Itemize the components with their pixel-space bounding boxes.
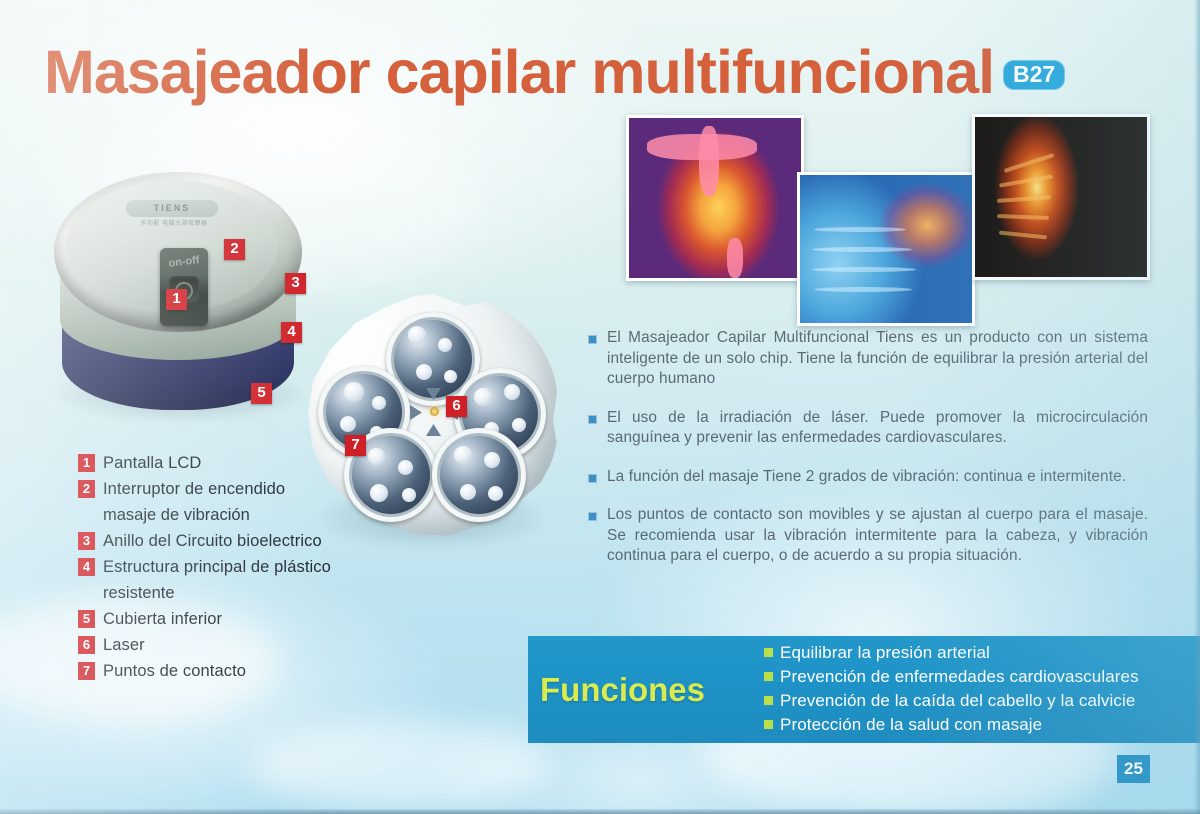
legend-item: 1Pantalla LCD <box>78 452 378 474</box>
bullet-square-icon <box>764 672 773 681</box>
function-item-label: Prevención de enfermedades cardiovascula… <box>780 666 1139 687</box>
legend-item: 6Laser <box>78 634 378 656</box>
device-logo-subtext: 多功能 电脑头部按摩器 <box>110 220 238 228</box>
feature-bullet-list: El Masajeador Capilar Multifuncional Tie… <box>588 328 1148 585</box>
bullet-square-icon <box>588 512 597 521</box>
function-item-label: Equilibrar la presión arterial <box>780 642 990 663</box>
bullet-square-icon <box>588 415 597 424</box>
massage-pod <box>432 428 526 522</box>
device-logo: TIENS <box>126 200 218 217</box>
functions-panel-title: Funciones <box>540 671 758 709</box>
function-item: Prevención de la caída del cabello y la … <box>764 690 1139 711</box>
legend-item-number: 5 <box>78 610 95 628</box>
cloud-decoration <box>250 720 550 810</box>
feature-bullet-text: La función del masaje Tiene 2 grados de … <box>607 467 1126 488</box>
function-item: Equilibrar la presión arterial <box>764 642 1139 663</box>
legend-item-label: Puntos de contacto <box>103 660 246 682</box>
model-badge: B27 <box>1003 60 1065 90</box>
functions-panel: Funciones Equilibrar la presión arterial… <box>528 636 1200 743</box>
function-item-label: Protección de la salud con masaje <box>780 714 1042 735</box>
callout-chip-4: 4 <box>281 322 302 343</box>
legend-item-label: Cubierta inferior <box>103 608 222 630</box>
legend-item: 3Anillo del Circuito bioelectrico <box>78 530 378 552</box>
page-title: Masajeador capilar multifuncional <box>44 42 994 103</box>
shoulder-skeleton-photo <box>797 172 975 326</box>
laser-dot-icon <box>430 407 439 416</box>
feature-bullet-text: El uso de la irradiación de láser. Puede… <box>607 408 1148 449</box>
bullet-square-icon <box>764 648 773 657</box>
feature-bullet: La función del masaje Tiene 2 grados de … <box>588 467 1148 488</box>
feature-bullet: El uso de la irradiación de láser. Puede… <box>588 408 1148 449</box>
callout-chip-3: 3 <box>285 273 306 294</box>
function-item: Protección de la salud con masaje <box>764 714 1139 735</box>
legend-item-number: 2 <box>78 480 95 498</box>
legend-item: 7Puntos de contacto <box>78 660 378 682</box>
legend-item: 2Interruptor de encendido <box>78 478 378 500</box>
page-title-block: Masajeador capilar multifuncional B27 <box>44 42 1065 103</box>
callout-chip-1: 1 <box>166 289 187 310</box>
legend-item-label: Laser <box>103 634 145 656</box>
callout-chip-2: 2 <box>224 239 245 260</box>
heart-anatomy-photo <box>626 115 804 281</box>
feature-bullet-text: Los puntos de contacto son movibles y se… <box>607 505 1148 567</box>
legend-item-label: Anillo del Circuito bioelectrico <box>103 530 322 552</box>
functions-list: Equilibrar la presión arterialPrevención… <box>764 642 1139 738</box>
legend-item-label: Interruptor de encendido <box>103 478 285 500</box>
legend-item-number: 7 <box>78 662 95 680</box>
bullet-square-icon <box>764 720 773 729</box>
feature-bullet: El Masajeador Capilar Multifuncional Tie… <box>588 328 1148 390</box>
legend-item-label: Estructura principal de plástico <box>103 556 331 578</box>
legend-item-number: 1 <box>78 454 95 472</box>
legend-item: 5Cubierta inferior <box>78 608 378 630</box>
feature-bullet: Los puntos de contacto son movibles y se… <box>588 505 1148 567</box>
parts-legend-list: 1Pantalla LCD2Interruptor de encendidoma… <box>78 452 378 686</box>
bullet-square-icon <box>588 335 597 344</box>
page-edge-bottom <box>0 809 1200 814</box>
page-number: 25 <box>1117 755 1150 783</box>
bullet-square-icon <box>588 474 597 483</box>
legend-item-label-continued: masaje de vibración <box>103 504 378 526</box>
legend-item-label: Pantalla LCD <box>103 452 201 474</box>
function-item-label: Prevención de la caída del cabello y la … <box>780 690 1135 711</box>
spine-thermal-photo <box>972 114 1150 280</box>
function-item: Prevención de enfermedades cardiovascula… <box>764 666 1139 687</box>
brochure-page: Masajeador capilar multifuncional B27 TI… <box>0 0 1200 814</box>
legend-item-number: 4 <box>78 558 95 576</box>
legend-item-number: 3 <box>78 532 95 550</box>
legend-item: 4Estructura principal de plástico <box>78 556 378 578</box>
legend-item-number: 6 <box>78 636 95 654</box>
page-edge-right <box>1194 0 1200 814</box>
bullet-square-icon <box>764 696 773 705</box>
legend-item-label-continued: resistente <box>103 582 378 604</box>
callout-chip-5: 5 <box>251 383 272 404</box>
callout-chip-6: 6 <box>446 396 467 417</box>
feature-bullet-text: El Masajeador Capilar Multifuncional Tie… <box>607 328 1148 390</box>
